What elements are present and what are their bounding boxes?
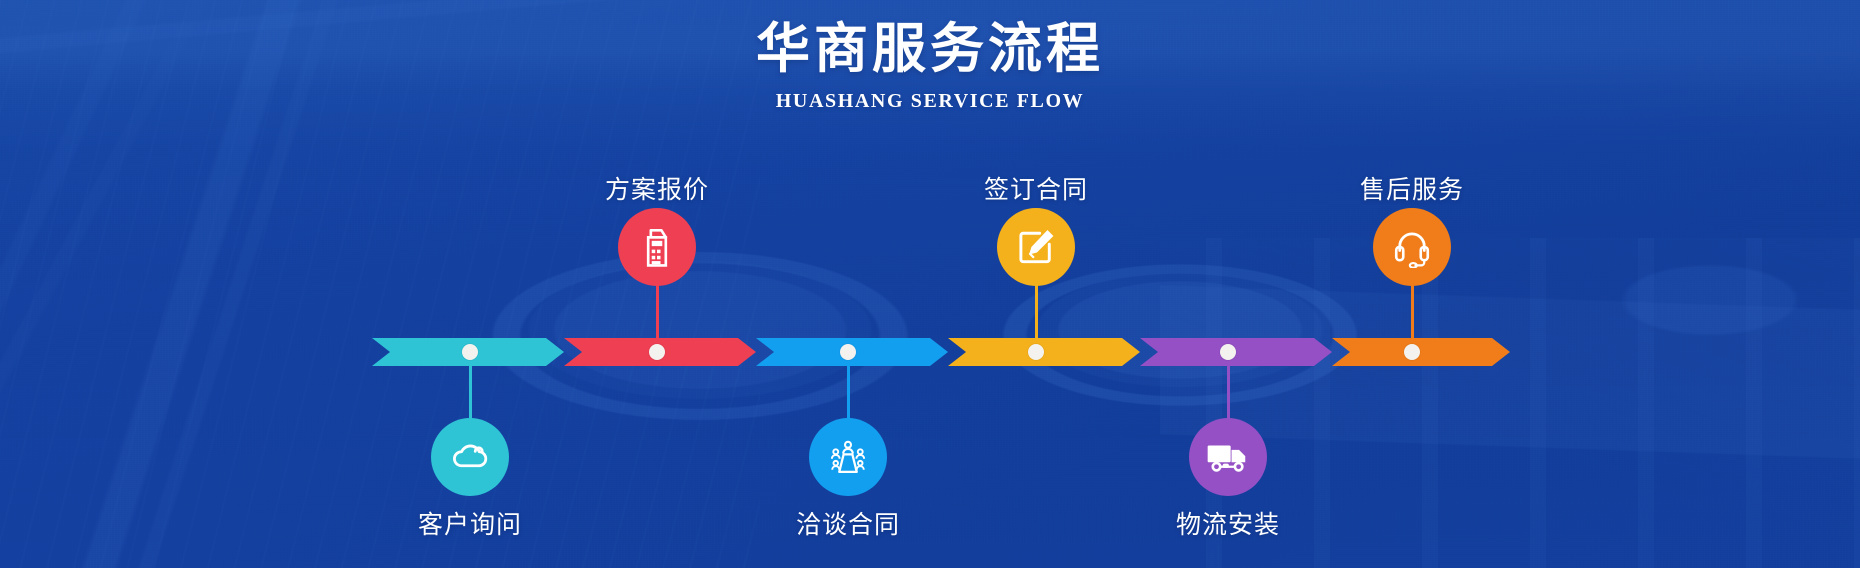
- flow-step-label-2: 方案报价: [527, 170, 787, 206]
- flow-step-node-dot-3: [840, 344, 856, 360]
- flow-step-node-dot-5: [1220, 344, 1236, 360]
- flow-step-node-dot-1: [462, 344, 478, 360]
- pen-edit-icon: [1014, 225, 1058, 269]
- flow-step-label-5: 物流安装: [1098, 505, 1358, 541]
- delivery-truck-icon: [1205, 439, 1251, 475]
- flow-step-connector-3: [847, 352, 850, 426]
- headset-icon: [1391, 226, 1433, 268]
- flow-step-icon-bubble-3[interactable]: [809, 418, 887, 496]
- flow-step-bar-5[interactable]: [1140, 338, 1332, 366]
- calculator-icon: [637, 225, 677, 269]
- flow-step-icon-bubble-2[interactable]: [618, 208, 696, 286]
- flow-step-icon-bubble-4[interactable]: [997, 208, 1075, 286]
- flow-step-icon-bubble-6[interactable]: [1373, 208, 1451, 286]
- flow-step-label-4: 签订合同: [906, 170, 1166, 206]
- flow-step-connector-1: [469, 352, 472, 426]
- flow-step-icon-bubble-5[interactable]: [1189, 418, 1267, 496]
- flow-step-label-6: 售后服务: [1282, 170, 1542, 206]
- flow-step-label-1: 客户询问: [340, 505, 600, 541]
- flow-step-node-dot-6: [1404, 344, 1420, 360]
- flow-step-bar-4[interactable]: [948, 338, 1140, 366]
- flow-step-icon-bubble-1[interactable]: [431, 418, 509, 496]
- flow-step-label-3: 洽谈合同: [718, 505, 978, 541]
- cloud-chat-icon: [449, 436, 491, 478]
- meeting-table-icon: [827, 436, 869, 478]
- flow-step-bar-6[interactable]: [1332, 338, 1510, 366]
- flow-step-connector-5: [1227, 352, 1230, 426]
- service-flow-banner: 华商服务流程 HUASHANG SERVICE FLOW 客户询问方案报价洽谈合…: [0, 0, 1860, 568]
- flow-step-node-dot-2: [649, 344, 665, 360]
- service-flow-diagram: 客户询问方案报价洽谈合同签订合同物流安装售后服务: [0, 0, 1860, 568]
- flow-step-node-dot-4: [1028, 344, 1044, 360]
